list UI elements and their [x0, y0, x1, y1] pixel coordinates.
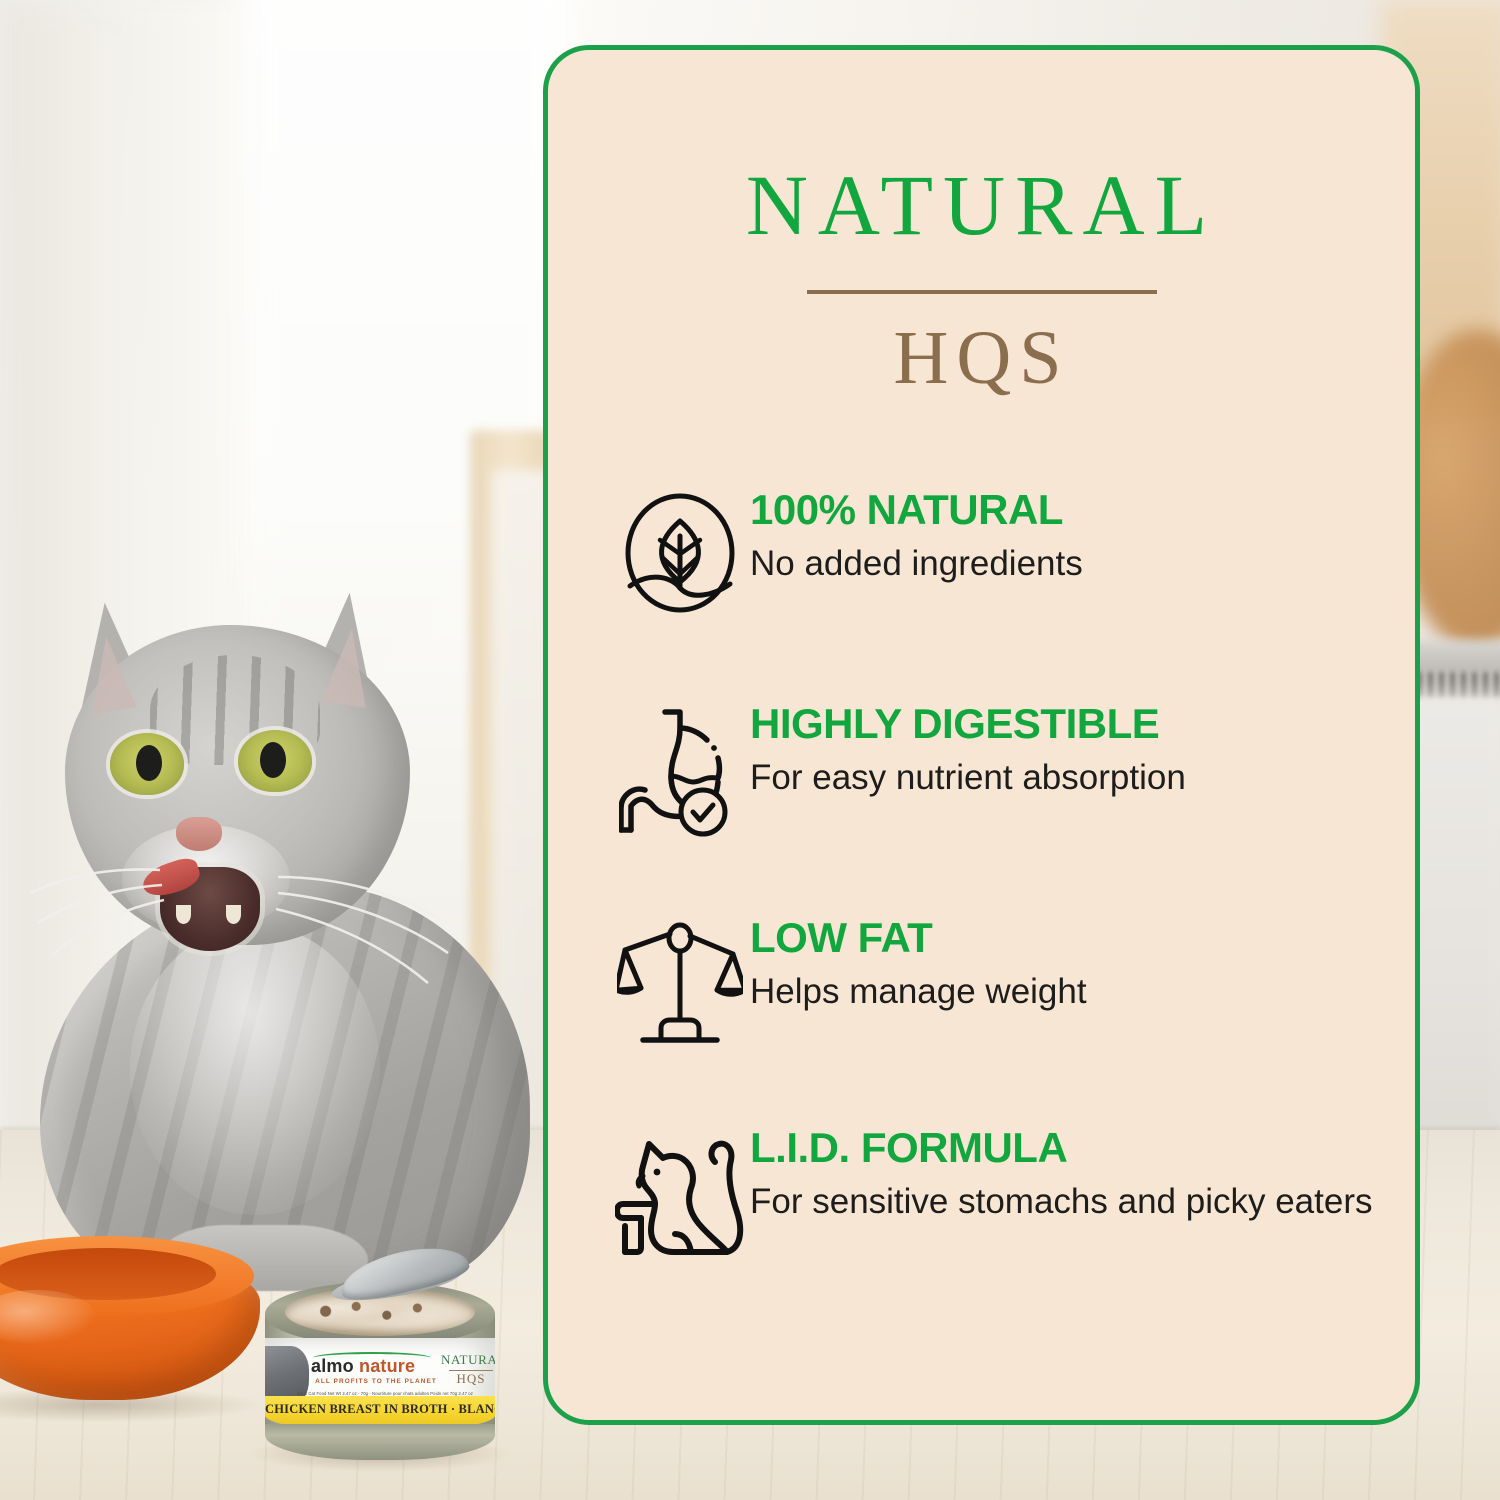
benefit-title: HIGHLY DIGESTIBLE — [750, 702, 1387, 746]
stomach-check-icon — [619, 702, 741, 838]
benefit-text: 100% NATURAL No added ingredients — [750, 488, 1387, 587]
benefit-text: HIGHLY DIGESTIBLE For easy nutrient abso… — [750, 702, 1387, 801]
benefit-subtitle: For sensitive stomachs and picky eaters — [750, 1180, 1387, 1225]
benefit-title: LOW FAT — [750, 916, 1387, 960]
brand-lockup: NATURAL HQS — [548, 50, 1415, 396]
can-label-tagline: ALL PROFITS TO THE PLANET — [313, 1378, 439, 1385]
benefit-item-natural: 100% NATURAL No added ingredients — [610, 488, 1387, 614]
can-label-flavor: CHICKEN BREAST IN BROTH · BLANC DE POULE… — [265, 1402, 495, 1417]
cat-nose — [176, 817, 222, 851]
leaf-circle-icon — [619, 492, 741, 614]
can-brand-nature: nature — [359, 1356, 415, 1376]
benefit-subtitle: Helps manage weight — [750, 970, 1387, 1015]
product-can: almo nature ALL PROFITS TO THE PLANET NA… — [255, 1258, 505, 1488]
benefit-icon-slot — [610, 916, 750, 1044]
brand-subtitle-hqs: HQS — [548, 320, 1415, 396]
brand-divider — [807, 290, 1157, 294]
benefit-icon-slot — [610, 702, 750, 838]
cat-tooth-left — [176, 905, 191, 924]
brand-title-natural: NATURAL — [548, 162, 1415, 248]
benefit-title: L.I.D. FORMULA — [750, 1126, 1387, 1170]
can-label: almo nature ALL PROFITS TO THE PLANET NA… — [265, 1338, 495, 1430]
orange-food-bowl — [0, 1230, 280, 1410]
cat-chest — [130, 925, 380, 1215]
benefits-card: NATURAL HQS 100% NATURAL No — [543, 45, 1420, 1425]
can-label-brand: almo nature — [311, 1356, 439, 1377]
sitting-cat-icon — [615, 1130, 745, 1264]
benefit-subtitle: No added ingredients — [750, 542, 1387, 587]
cat-pupil-left — [136, 745, 162, 781]
benefit-item-digestible: HIGHLY DIGESTIBLE For easy nutrient abso… — [610, 702, 1387, 838]
product-infographic: almo nature ALL PROFITS TO THE PLANET NA… — [0, 0, 1500, 1500]
can-label-hqs: HQS — [441, 1371, 495, 1387]
benefit-text: LOW FAT Helps manage weight — [750, 916, 1387, 1015]
benefit-item-low-fat: LOW FAT Helps manage weight — [610, 916, 1387, 1044]
can-brand-almo: almo — [311, 1356, 359, 1376]
benefit-text: L.I.D. FORMULA For sensitive stomachs an… — [750, 1126, 1387, 1225]
benefit-icon-slot — [610, 1126, 750, 1264]
cat-pupil-right — [260, 742, 286, 778]
benefit-item-lid-formula: L.I.D. FORMULA For sensitive stomachs an… — [610, 1126, 1387, 1264]
benefit-icon-slot — [610, 488, 750, 614]
cat-tooth-right — [226, 905, 241, 924]
balance-scale-icon — [617, 920, 743, 1044]
benefit-title: 100% NATURAL — [750, 488, 1387, 532]
cat-photo — [10, 585, 570, 1275]
can-label-natural: NATURAL — [441, 1352, 495, 1368]
benefits-list: 100% NATURAL No added ingredients — [548, 488, 1415, 1264]
benefit-subtitle: For easy nutrient absorption — [750, 756, 1387, 801]
